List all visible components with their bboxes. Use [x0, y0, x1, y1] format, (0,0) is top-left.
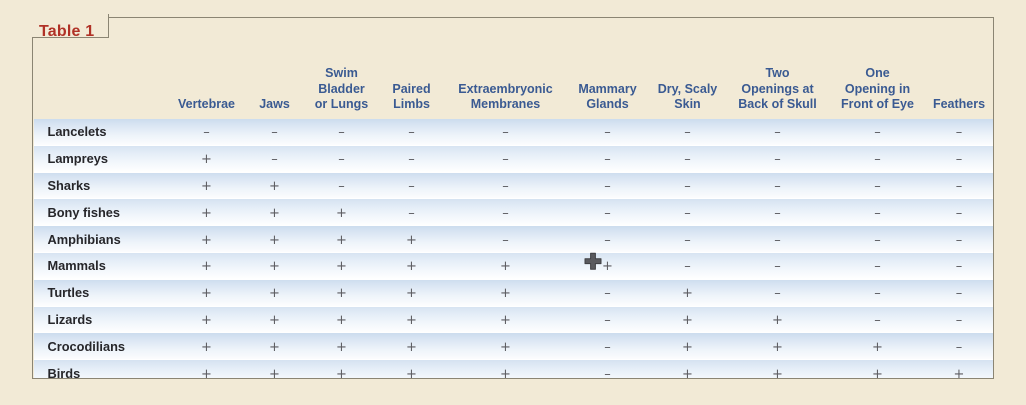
- table-cell: –: [830, 199, 926, 226]
- table-cell: –: [650, 119, 726, 146]
- trait-mark: –: [408, 207, 415, 220]
- row-label: Bony fishes: [34, 199, 170, 226]
- table-cell: –: [446, 226, 566, 253]
- trait-mark: –: [604, 234, 611, 247]
- table-cell: –: [726, 172, 830, 199]
- table-cell: +: [378, 360, 446, 378]
- table-cell: –: [650, 199, 726, 226]
- trait-mark: –: [502, 153, 509, 166]
- table-row[interactable]: Turtles+++++–+–––: [34, 279, 993, 306]
- table-cell: –: [650, 252, 726, 279]
- table-cell: –: [926, 279, 993, 306]
- trait-mark: +: [269, 180, 280, 193]
- trait-mark: +: [872, 341, 883, 354]
- header-line: Extraembryonic: [458, 82, 552, 96]
- trait-mark: –: [774, 287, 781, 300]
- header-row: Vertebrae Jaws Swim Bladder or Lungs Pai…: [34, 19, 993, 119]
- trait-mark: +: [336, 341, 347, 354]
- trait-mark: –: [874, 287, 881, 300]
- header-line: Glands: [586, 97, 628, 111]
- header-paired-limbs: Paired Limbs: [378, 19, 446, 119]
- trait-mark: +: [336, 314, 347, 327]
- trait-mark: +: [269, 207, 280, 220]
- table-cell: –: [830, 145, 926, 172]
- table-body: Lancelets––––––––––Lampreys+–––––––––Sha…: [34, 119, 993, 378]
- trait-mark: +: [269, 341, 280, 354]
- row-label: Lancelets: [34, 119, 170, 146]
- table-cell: –: [926, 119, 993, 146]
- trait-mark: +: [872, 368, 883, 378]
- table-cell: –: [446, 199, 566, 226]
- table-cell: +: [244, 226, 306, 253]
- trait-mark: +: [500, 314, 511, 327]
- row-label: Crocodilians: [34, 333, 170, 360]
- trait-mark: –: [874, 126, 881, 139]
- table-row[interactable]: Lizards+++++–++––: [34, 306, 993, 333]
- header-line: Swim: [325, 66, 358, 80]
- table-cell: +: [170, 333, 244, 360]
- table-cell: –: [926, 226, 993, 253]
- table-cell: –: [926, 199, 993, 226]
- table-row[interactable]: Lampreys+–––––––––: [34, 145, 993, 172]
- trait-mark: +: [500, 341, 511, 354]
- table-cell: +: [726, 306, 830, 333]
- trait-mark: +: [201, 314, 212, 327]
- table-cell: –: [566, 199, 650, 226]
- table-cell: +: [244, 199, 306, 226]
- header-line: Openings at: [741, 82, 813, 96]
- trait-mark: +: [500, 260, 511, 273]
- trait-mark: –: [271, 126, 278, 139]
- header-mammary-glands: Mammary Glands: [566, 19, 650, 119]
- trait-mark: –: [874, 314, 881, 327]
- trait-mark: +: [336, 368, 347, 378]
- header-line: Opening in: [845, 82, 910, 96]
- trait-mark: –: [956, 207, 963, 220]
- table-cell: –: [830, 279, 926, 306]
- table-cell: +: [306, 360, 378, 378]
- table-cell: +: [170, 172, 244, 199]
- trait-mark: –: [338, 180, 345, 193]
- header-dry-scaly-skin: Dry, Scaly Skin: [650, 19, 726, 119]
- header-line: Vertebrae: [178, 97, 235, 111]
- trait-mark: +: [406, 287, 417, 300]
- table-cell: +: [306, 226, 378, 253]
- table-cell: –: [830, 172, 926, 199]
- trait-mark: +: [336, 260, 347, 273]
- header-line: or Lungs: [315, 97, 368, 111]
- trait-mark: –: [956, 314, 963, 327]
- table-cell: +: [378, 306, 446, 333]
- trait-mark: +: [201, 207, 212, 220]
- table-cell: –: [566, 145, 650, 172]
- table-cell: +: [650, 279, 726, 306]
- header-line: Dry, Scaly: [658, 82, 718, 96]
- header-vertebrae: Vertebrae: [170, 19, 244, 119]
- header-line: One: [865, 66, 889, 80]
- trait-mark: +: [602, 260, 613, 273]
- trait-mark: +: [406, 260, 417, 273]
- table-cell: +: [446, 279, 566, 306]
- trait-mark: –: [203, 126, 210, 139]
- table-cell: +: [306, 252, 378, 279]
- row-label: Lizards: [34, 306, 170, 333]
- trait-mark: +: [269, 234, 280, 247]
- trait-mark: –: [338, 126, 345, 139]
- table-cell: +: [446, 252, 566, 279]
- table-cell: +: [306, 199, 378, 226]
- table-cell: –: [566, 172, 650, 199]
- vertebrate-traits-table: Vertebrae Jaws Swim Bladder or Lungs Pai…: [34, 19, 993, 378]
- table-row[interactable]: Crocodilians+++++–+++–: [34, 333, 993, 360]
- table-cell: +: [378, 226, 446, 253]
- header-feathers: Feathers: [926, 19, 993, 119]
- trait-mark: –: [956, 126, 963, 139]
- table-cell: –: [306, 119, 378, 146]
- trait-mark: +: [336, 287, 347, 300]
- table-figure: Table 1 Vertebrae: [0, 0, 1026, 405]
- trait-mark: +: [201, 287, 212, 300]
- table-cell: –: [566, 279, 650, 306]
- table-cell: +: [170, 252, 244, 279]
- trait-mark: –: [874, 180, 881, 193]
- table-caption-label: Table 1: [39, 22, 94, 42]
- row-label: Sharks: [34, 172, 170, 199]
- table-cell: –: [446, 172, 566, 199]
- table-cell: –: [306, 145, 378, 172]
- table-cell: +: [170, 306, 244, 333]
- table-cell: –: [378, 119, 446, 146]
- table-cell: –: [170, 119, 244, 146]
- trait-mark: –: [774, 207, 781, 220]
- trait-mark: –: [502, 207, 509, 220]
- table-cell: +: [378, 252, 446, 279]
- trait-mark: +: [406, 341, 417, 354]
- table-cell: –: [726, 226, 830, 253]
- trait-mark: –: [502, 234, 509, 247]
- trait-mark: +: [201, 180, 212, 193]
- row-label: Amphibians: [34, 226, 170, 253]
- header-line: Front of Eye: [841, 97, 914, 111]
- trait-mark: +: [269, 368, 280, 378]
- trait-mark: +: [682, 314, 693, 327]
- table-cell: +: [446, 333, 566, 360]
- trait-mark: +: [269, 260, 280, 273]
- table-cell: +: [306, 333, 378, 360]
- table-cell: –: [926, 333, 993, 360]
- table-cell: +: [650, 360, 726, 378]
- table-cell: –: [378, 199, 446, 226]
- table-cell: –: [726, 199, 830, 226]
- header-line: Jaws: [259, 97, 290, 111]
- trait-mark: –: [874, 234, 881, 247]
- table-cell: +: [244, 306, 306, 333]
- row-label: Birds: [34, 360, 170, 378]
- table-cell: –: [446, 145, 566, 172]
- trait-mark: +: [772, 368, 783, 378]
- table-scroll-area: Vertebrae Jaws Swim Bladder or Lungs Pai…: [34, 19, 993, 378]
- trait-mark: –: [874, 207, 881, 220]
- table-cell: +: [830, 333, 926, 360]
- table-cell: –: [926, 172, 993, 199]
- header-line: Limbs: [393, 97, 430, 111]
- table-cell: +: [306, 279, 378, 306]
- table-cell: –: [650, 172, 726, 199]
- trait-mark: –: [774, 180, 781, 193]
- table-cell: +: [726, 360, 830, 378]
- trait-mark: –: [874, 260, 881, 273]
- header-line: Membranes: [471, 97, 540, 111]
- trait-mark: +: [500, 368, 511, 378]
- trait-mark: +: [201, 260, 212, 273]
- trait-mark: –: [604, 180, 611, 193]
- table-cell: –: [926, 252, 993, 279]
- table-row[interactable]: Sharks++––––––––: [34, 172, 993, 199]
- trait-mark: +: [269, 287, 280, 300]
- trait-mark: –: [408, 126, 415, 139]
- header-swim-bladder-or-lungs: Swim Bladder or Lungs: [306, 19, 378, 119]
- trait-mark: +: [269, 314, 280, 327]
- table-cell: +: [650, 333, 726, 360]
- trait-mark: –: [956, 287, 963, 300]
- trait-mark: –: [604, 207, 611, 220]
- table-cell: –: [830, 252, 926, 279]
- trait-mark: +: [406, 368, 417, 378]
- table-cell: +: [170, 226, 244, 253]
- header-jaws: Jaws: [244, 19, 306, 119]
- trait-mark: +: [682, 287, 693, 300]
- table-cell: –: [926, 145, 993, 172]
- trait-mark: –: [604, 126, 611, 139]
- table-row[interactable]: Bony fishes+++–––––––: [34, 199, 993, 226]
- trait-mark: –: [502, 180, 509, 193]
- trait-mark: –: [774, 234, 781, 247]
- table-cell: –: [726, 145, 830, 172]
- table-cell: –: [830, 226, 926, 253]
- table-row[interactable]: Lancelets––––––––––: [34, 119, 993, 146]
- table-cell: +: [170, 199, 244, 226]
- header-line: Paired: [392, 82, 430, 96]
- table-cell: –: [566, 119, 650, 146]
- table-cell: +: [244, 172, 306, 199]
- table-cell: +: [244, 360, 306, 378]
- table-cell: –: [830, 306, 926, 333]
- trait-mark: –: [684, 260, 691, 273]
- trait-mark: –: [604, 287, 611, 300]
- trait-mark: +: [682, 368, 693, 378]
- trait-mark: –: [604, 368, 611, 378]
- trait-mark: +: [406, 234, 417, 247]
- trait-mark: +: [201, 368, 212, 378]
- header-line: Skin: [674, 97, 700, 111]
- trait-mark: –: [956, 153, 963, 166]
- trait-mark: –: [338, 153, 345, 166]
- trait-mark: –: [684, 207, 691, 220]
- table-cell: –: [378, 172, 446, 199]
- table-cell: +: [650, 306, 726, 333]
- header-line: Bladder: [318, 82, 365, 96]
- table-cell: +: [244, 252, 306, 279]
- header-two-openings-back-of-skull: Two Openings at Back of Skull: [726, 19, 830, 119]
- trait-mark: –: [956, 180, 963, 193]
- table-cell: –: [650, 145, 726, 172]
- trait-mark: –: [684, 234, 691, 247]
- table-cell: +: [170, 279, 244, 306]
- trait-mark: –: [956, 234, 963, 247]
- trait-mark: –: [956, 260, 963, 273]
- trait-mark: –: [774, 126, 781, 139]
- table-cell: +: [926, 360, 993, 378]
- table-row[interactable]: Mammals++++++––––: [34, 252, 993, 279]
- header-line: Back of Skull: [738, 97, 817, 111]
- header-extraembryonic-membranes: Extraembryonic Membranes: [446, 19, 566, 119]
- table-cell: +: [830, 360, 926, 378]
- trait-mark: –: [684, 180, 691, 193]
- trait-mark: –: [604, 153, 611, 166]
- table-cell: –: [244, 119, 306, 146]
- table-cell: –: [566, 306, 650, 333]
- table-cell: –: [306, 172, 378, 199]
- table-cell: +: [244, 279, 306, 306]
- table-cell: –: [244, 145, 306, 172]
- trait-mark: –: [956, 341, 963, 354]
- table-cell: –: [650, 226, 726, 253]
- table-cell: +: [378, 333, 446, 360]
- trait-mark: –: [408, 180, 415, 193]
- trait-mark: +: [201, 234, 212, 247]
- table-cell: –: [830, 119, 926, 146]
- row-label: Turtles: [34, 279, 170, 306]
- table-cell: –: [446, 119, 566, 146]
- table-cell: +: [726, 333, 830, 360]
- header-line: Mammary: [578, 82, 636, 96]
- table-cell: +: [566, 252, 650, 279]
- row-label: Mammals: [34, 252, 170, 279]
- trait-mark: +: [201, 153, 212, 166]
- trait-mark: –: [604, 314, 611, 327]
- row-label: Lampreys: [34, 145, 170, 172]
- table-cell: +: [306, 306, 378, 333]
- table-header: Vertebrae Jaws Swim Bladder or Lungs Pai…: [34, 19, 993, 119]
- trait-mark: +: [500, 287, 511, 300]
- header-line: Feathers: [933, 97, 985, 111]
- trait-mark: +: [336, 234, 347, 247]
- header-line: Two: [765, 66, 789, 80]
- table-cell: +: [446, 306, 566, 333]
- table-cell: –: [726, 252, 830, 279]
- table-cell: +: [446, 360, 566, 378]
- trait-mark: +: [201, 341, 212, 354]
- table-row[interactable]: Amphibians++++––––––: [34, 226, 993, 253]
- trait-mark: –: [502, 126, 509, 139]
- table-row[interactable]: Birds+++++–++++: [34, 360, 993, 378]
- table-cell: –: [378, 145, 446, 172]
- trait-mark: +: [772, 314, 783, 327]
- table-cell: +: [170, 145, 244, 172]
- trait-mark: +: [772, 341, 783, 354]
- table-cell: –: [726, 279, 830, 306]
- trait-mark: –: [408, 153, 415, 166]
- trait-mark: +: [336, 207, 347, 220]
- trait-mark: –: [684, 153, 691, 166]
- header-one-opening-front-of-eye: One Opening in Front of Eye: [830, 19, 926, 119]
- table-cell: –: [926, 306, 993, 333]
- table-cell: –: [566, 226, 650, 253]
- trait-mark: –: [774, 260, 781, 273]
- table-cell: –: [566, 333, 650, 360]
- trait-mark: –: [774, 153, 781, 166]
- trait-mark: +: [682, 341, 693, 354]
- trait-mark: –: [874, 153, 881, 166]
- table-cell: +: [244, 333, 306, 360]
- trait-mark: –: [271, 153, 278, 166]
- table-cell: +: [170, 360, 244, 378]
- trait-mark: –: [604, 341, 611, 354]
- table-cell: –: [566, 360, 650, 378]
- trait-mark: +: [406, 314, 417, 327]
- table-cell: +: [378, 279, 446, 306]
- trait-mark: –: [684, 126, 691, 139]
- table-cell: –: [726, 119, 830, 146]
- trait-mark: +: [954, 368, 965, 378]
